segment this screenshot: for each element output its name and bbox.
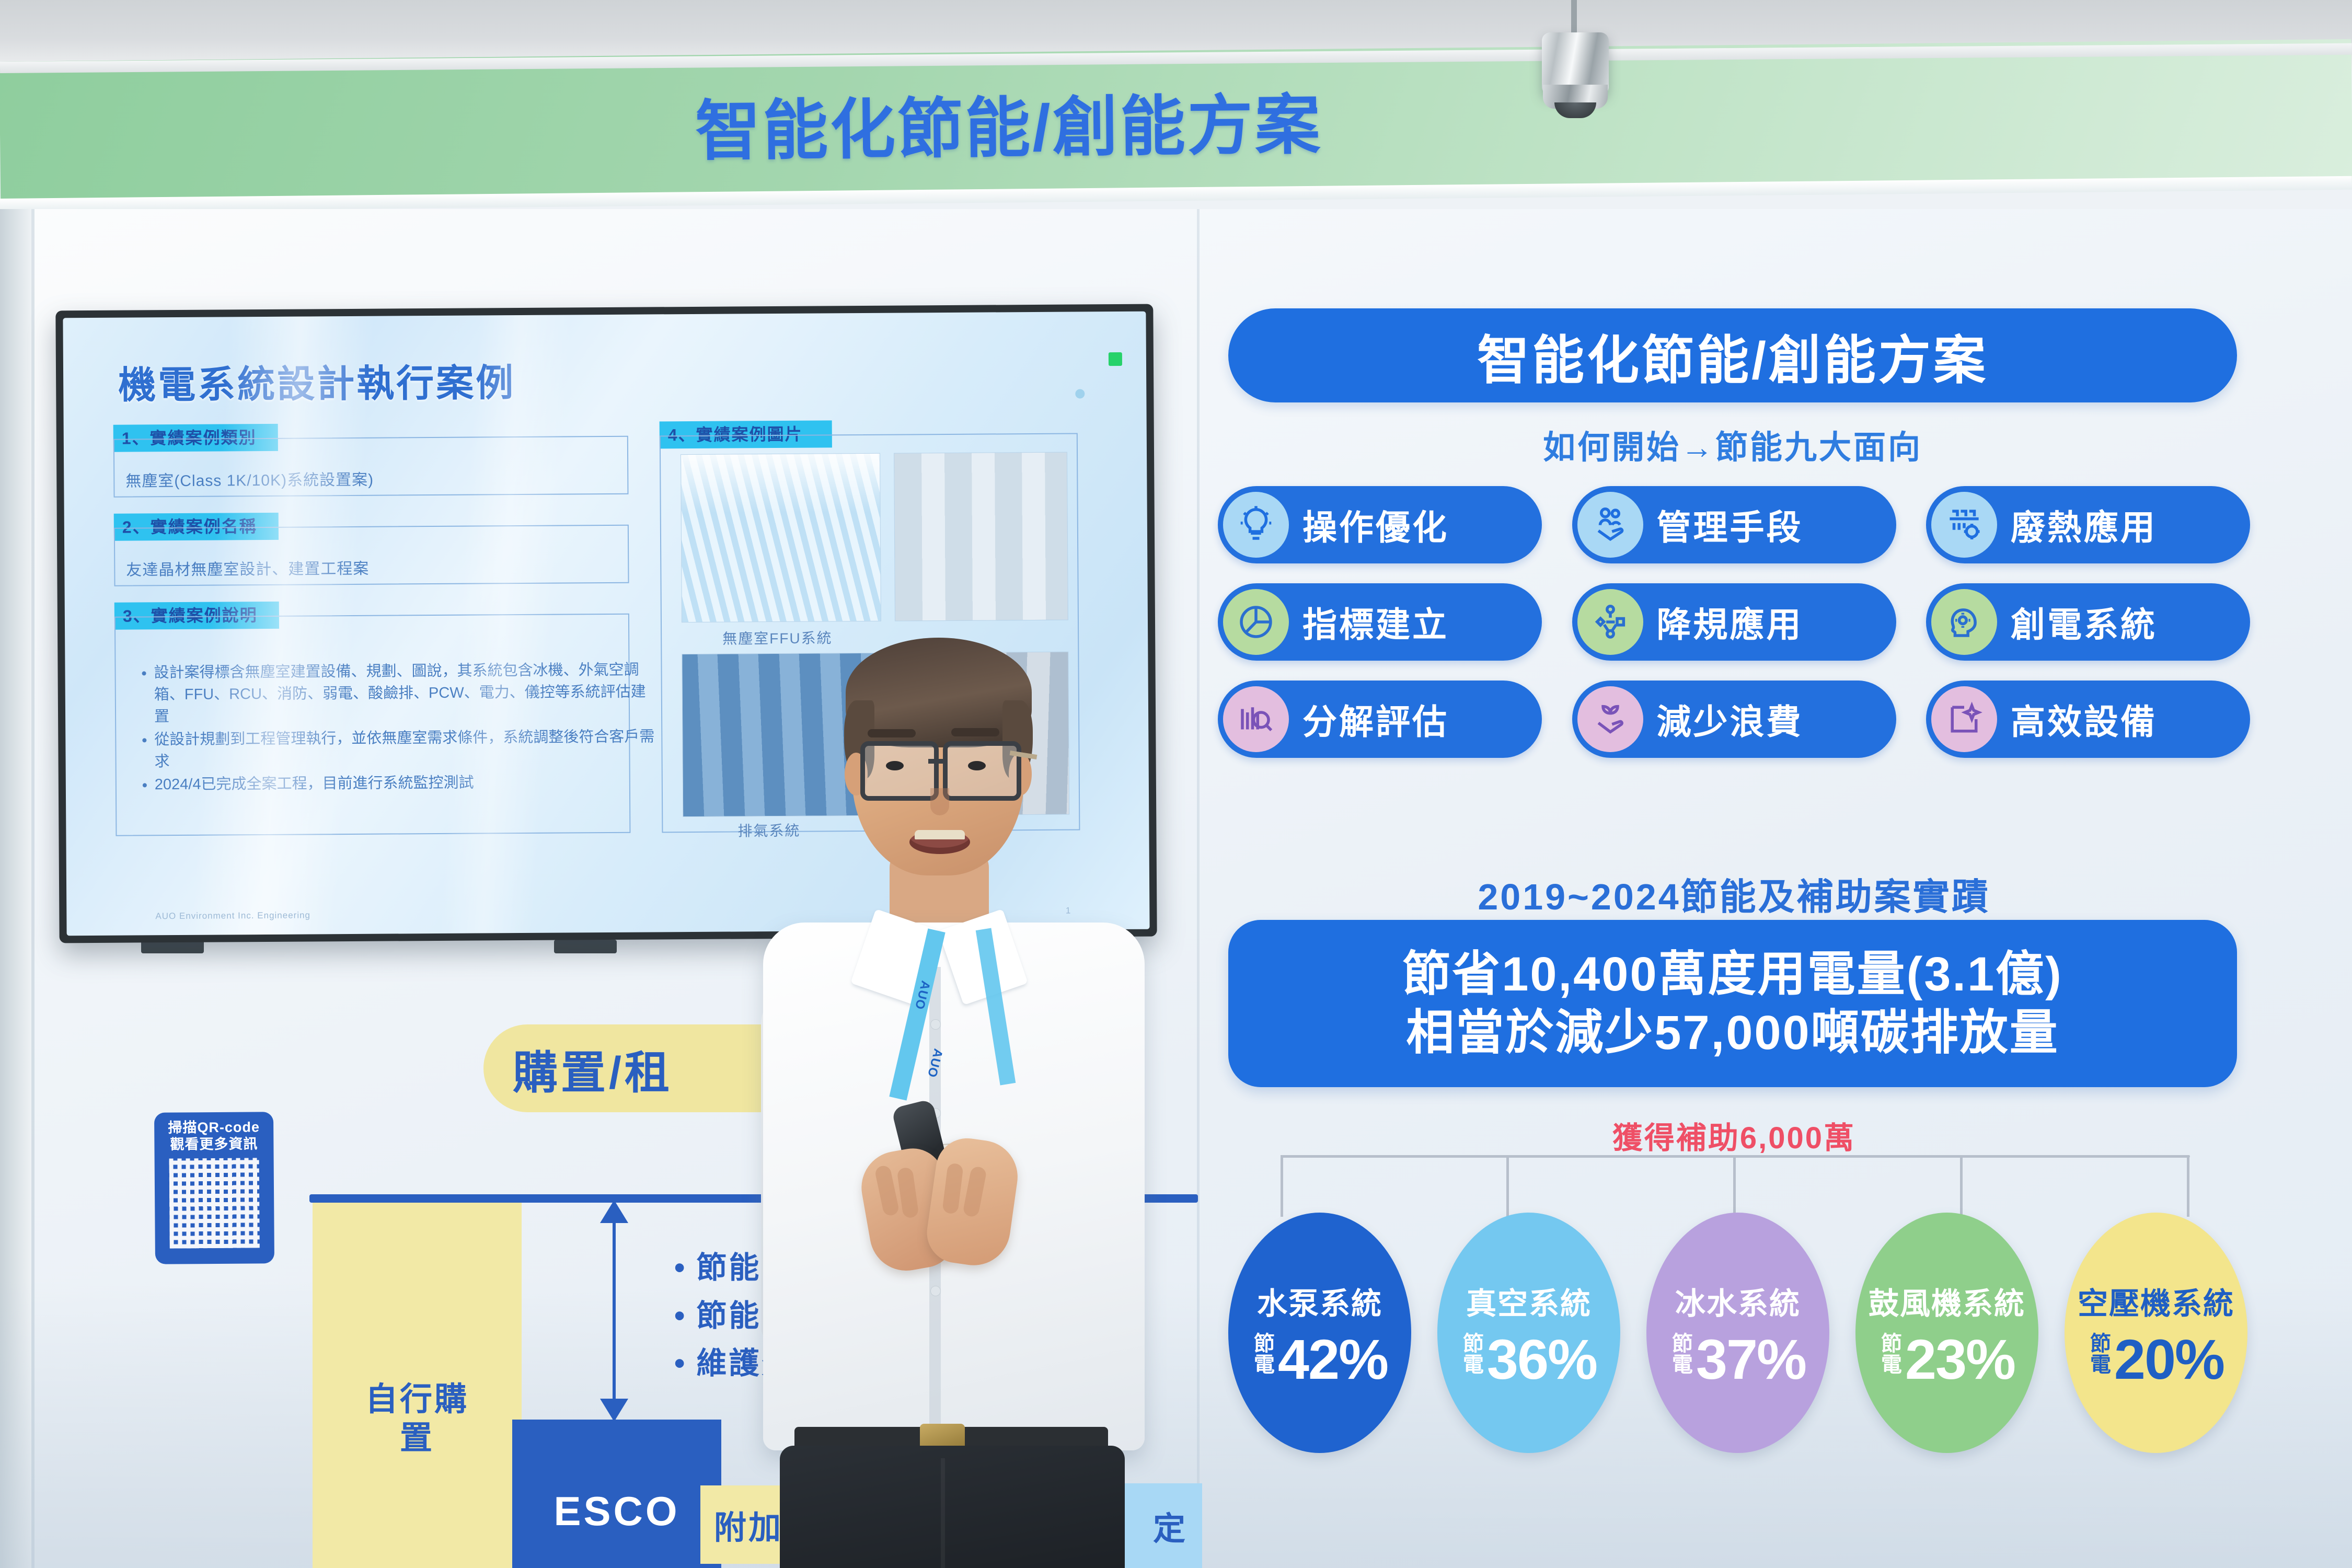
slide-photo-cleanroom	[681, 453, 881, 622]
system-name: 冰水系統	[1675, 1279, 1801, 1323]
photo-scene: 智能化節能/創能方案 機電系統設計執行案例 1、實績案例類別 無塵室(Class…	[0, 0, 2352, 1568]
slide-section-value-1: 無塵室(Class 1K/10K)系統設置案)	[125, 467, 374, 491]
system-circle-pump: 水泵系統 節電 42%	[1228, 1213, 1411, 1453]
stats-heading: 2019~2024節能及補助案實蹟	[1218, 868, 2250, 920]
system-circle-blower: 鼓風機系統 節電 23%	[1855, 1213, 2038, 1453]
eyebrow-right	[951, 728, 999, 736]
aspect-pill-operation-optimization[interactable]: 操作優化	[1218, 486, 1542, 563]
arrow-down-icon	[600, 1399, 628, 1422]
magnifier-chart-icon	[1223, 686, 1289, 752]
system-small-label: 節電	[1879, 1332, 1900, 1387]
system-percent: 20%	[2114, 1333, 2224, 1387]
slide-bullet-2: 從設計規劃到工程管理執行，並依無塵室需求條件，系統調整後符合客戶需求	[154, 726, 656, 773]
heat-gear-icon	[1931, 492, 1997, 558]
aspect-pill-waste-heat[interactable]: 廢熱應用	[1926, 486, 2250, 563]
connector-stem-2	[1506, 1155, 1509, 1217]
aspect-pill-reduce-waste[interactable]: 減少浪費	[1572, 681, 1896, 758]
shirt-button-1	[930, 1019, 941, 1030]
system-percent: 42%	[1278, 1333, 1388, 1387]
nose	[930, 788, 949, 815]
system-small-label: 節電	[1252, 1332, 1273, 1387]
eye-left	[886, 761, 904, 770]
slide-section-value-2: 友達晶材無塵室設計、建置工程案	[126, 556, 369, 580]
nine-aspects-grid: 操作優化 管理手段	[1218, 486, 2250, 778]
aspect-pill-indicator-setup[interactable]: 指標建立	[1218, 583, 1542, 661]
aspect-label: 創電系統	[2011, 597, 2157, 647]
qr-code-badge[interactable]: 掃描QR-code 觀看更多資訊	[154, 1112, 274, 1264]
slide-title: 機電系統設計執行案例	[118, 352, 516, 409]
head-gear-icon	[1931, 589, 1997, 655]
aspect-pill-management-method[interactable]: 管理手段	[1572, 486, 1896, 563]
system-name: 真空系統	[1466, 1279, 1592, 1323]
presenter: AUO AUO AUO	[695, 622, 1197, 1568]
aspect-label: 減少浪費	[1657, 694, 1803, 744]
system-circle-air-compressor: 空壓機系統 節電 20%	[2065, 1213, 2247, 1453]
poster-subtitle: 如何開始→節能九大面向	[1218, 421, 2247, 468]
eyeglass-lens-left	[860, 741, 939, 801]
slide-footer-left: AUO Environment Inc. Engineering	[155, 910, 310, 921]
eyeglass-lens-right	[943, 741, 1021, 801]
system-percent: 23%	[1905, 1333, 2015, 1387]
system-name: 水泵系統	[1257, 1279, 1382, 1323]
slide-bullet-list: 設計案得標含無塵室建置設備、規劃、圖說，其系統包含冰機、外氣空調箱、FFU、RC…	[133, 659, 656, 797]
subsidy-amount: 獲得補助6,000萬	[1218, 1113, 2250, 1157]
trouser-crease	[941, 1458, 945, 1568]
system-small-label: 節電	[1670, 1332, 1691, 1387]
teeth	[915, 830, 965, 839]
aspect-label: 管理手段	[1657, 500, 1803, 550]
banner-title: 智能化節能/創能方案	[695, 68, 1636, 173]
aspects-row-3: 分解評估 減少浪費	[1218, 681, 2250, 758]
eye-right	[968, 761, 986, 770]
pie-chart-icon	[1223, 589, 1289, 655]
system-circle-chiller: 冰水系統 節電 37%	[1646, 1213, 1829, 1453]
esco-label: ESCO	[512, 1488, 721, 1535]
trousers	[780, 1446, 1125, 1568]
aspect-pill-power-generation[interactable]: 創電系統	[1926, 583, 2250, 661]
eyeglass-bridge	[928, 759, 944, 764]
shirt-button-4	[930, 1286, 941, 1296]
aspect-label: 廢熱應用	[2011, 500, 2157, 550]
aspect-pill-downsizing[interactable]: 降規應用	[1572, 583, 1896, 661]
stats-line-1: 節省10,400萬度用電量(3.1億)	[1402, 945, 2063, 1004]
aspect-label: 操作優化	[1302, 500, 1449, 550]
savings-arrow-line	[613, 1202, 616, 1422]
stats-highlight-box: 節省10,400萬度用電量(3.1億) 相當於減少57,000噸碳排放量	[1228, 920, 2237, 1087]
system-name: 鼓風機系統	[1869, 1279, 2025, 1323]
connector-stem-1	[1281, 1155, 1283, 1217]
energy-solution-poster: 智能化節能/創能方案 如何開始→節能九大面向 操作優化	[1218, 293, 2274, 1568]
system-name: 空壓機系統	[2078, 1279, 2234, 1323]
spotlight-rod	[1571, 0, 1577, 37]
connector-stem-4	[1960, 1155, 1963, 1217]
slide-photo-equipment	[894, 452, 1068, 621]
aspect-pill-efficient-equipment[interactable]: 高效設備	[1926, 681, 2250, 758]
aspects-row-1: 操作優化 管理手段	[1218, 486, 2250, 563]
qr-badge-line1: 掃描QR-code	[159, 1119, 268, 1136]
aspect-label: 分解評估	[1302, 694, 1449, 744]
esco-bar: ESCO	[512, 1420, 721, 1568]
slide-bullet-1: 設計案得標含無塵室建置設備、規劃、圖說，其系統包含冰機、外氣空調箱、FFU、RC…	[154, 659, 656, 728]
aspect-label: 指標建立	[1302, 597, 1449, 647]
connector-stem-5	[2187, 1155, 2189, 1217]
connector-bracket	[1281, 1155, 2190, 1218]
poster-title: 智能化節能/創能方案	[1228, 308, 2237, 402]
sparkle-device-icon	[1931, 686, 1997, 752]
aspect-label: 降規應用	[1657, 597, 1803, 647]
tv-stand-right	[554, 940, 617, 953]
connector-stem-3	[1733, 1155, 1736, 1217]
system-small-label: 節電	[2088, 1332, 2109, 1387]
qr-code-icon	[169, 1158, 260, 1248]
system-circle-vacuum: 真空系統 節電 36%	[1437, 1213, 1620, 1453]
lightbulb-icon	[1223, 492, 1289, 558]
screen-indicator-blue	[1075, 389, 1085, 398]
network-nodes-icon	[1577, 589, 1643, 655]
qr-badge-line2: 觀看更多資訊	[159, 1136, 268, 1153]
stats-line-2: 相當於減少57,000噸碳排放量	[1406, 1004, 2059, 1062]
aspect-label: 高效設備	[2011, 694, 2157, 744]
self-purchase-label: 自行購置	[349, 1380, 485, 1458]
system-percent: 36%	[1487, 1333, 1597, 1387]
system-savings-circles: 水泵系統 節電 42% 真空系統 節電 36% 冰水系統 節電 37%	[1228, 1213, 2247, 1453]
aspect-pill-decomposition-assessment[interactable]: 分解評估	[1218, 681, 1542, 758]
screen-indicator-green	[1109, 352, 1122, 366]
leaf-hand-icon	[1577, 686, 1643, 752]
system-small-label: 節電	[1461, 1332, 1482, 1387]
slide-bullet-3: 2024/4已完成全案工程，目前進行系統監控測試	[155, 771, 656, 796]
eyebrow-left	[868, 729, 916, 737]
people-hand-icon	[1577, 492, 1643, 558]
system-percent: 37%	[1696, 1333, 1806, 1387]
aspects-row-2: 指標建立 降規應用	[1218, 583, 2250, 661]
self-purchase-bar: 自行購置	[313, 1203, 522, 1568]
